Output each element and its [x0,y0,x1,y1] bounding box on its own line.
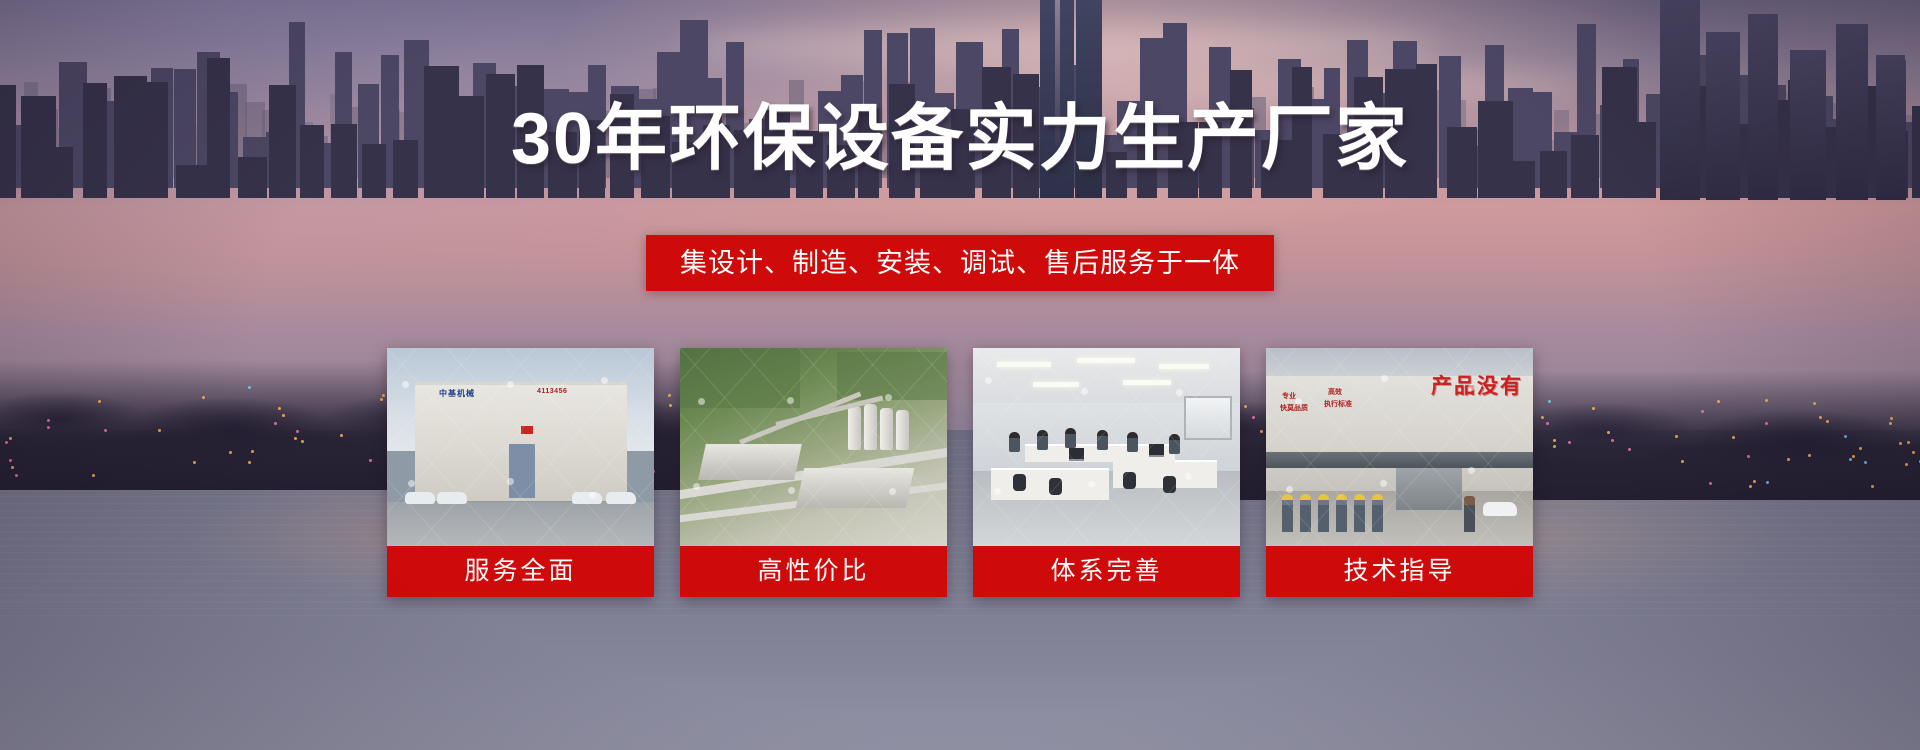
feature-card[interactable]: 体系完善 [973,348,1240,597]
flag-icon [521,426,533,434]
watermark-dot [1088,481,1095,488]
watermark-dot [788,487,795,494]
watermark-dot [1286,486,1293,493]
watermark-dot [698,398,705,405]
watermark-dot [1381,375,1388,382]
card-caption: 技术指导 [1266,546,1533,597]
building-sign-text: 中基机械 [439,388,475,399]
watermark-dot [1176,389,1183,396]
card-caption: 高性价比 [680,546,947,597]
car-shape [1483,502,1517,516]
feature-card[interactable]: 中基机械 4113456 服务全面 [387,348,654,597]
watermark-dot [985,377,992,384]
watermark-dot [693,483,700,490]
hero-banner: 30年环保设备实力生产厂家 集设计、制造、安装、调试、售后服务于一体 中基机械 … [0,0,1920,750]
page-title: 30年环保设备实力生产厂家 [0,98,1920,180]
watermark-dot [1295,398,1302,405]
card-caption: 服务全面 [387,546,654,597]
wall-slogan-text: 专业 [1282,392,1296,401]
feature-card-list: 中基机械 4113456 服务全面 [387,348,1533,597]
window-shape [1184,396,1232,440]
subtitle-banner: 集设计、制造、安装、调试、售后服务于一体 [646,235,1274,291]
wall-slogan-text: 快莫品质 [1280,404,1308,413]
watermark-dot [1468,384,1475,391]
watermark-dot [885,394,892,401]
feature-card[interactable]: 产品没有 专业 快莫品质 高效 执行标准 [1266,348,1533,597]
subtitle-text: 集设计、制造、安装、调试、售后服务于一体 [680,247,1240,279]
card-photo-factory-facade: 产品没有 专业 快莫品质 高效 执行标准 [1266,348,1533,546]
hero-content: 30年环保设备实力生产厂家 集设计、制造、安装、调试、售后服务于一体 中基机械 … [0,0,1920,750]
watermark-dot [402,381,409,388]
card-photo-industrial-plant [680,348,947,546]
watermark-dot [507,381,514,388]
wall-slogan-text: 高效 [1328,388,1342,397]
card-photo-office-building: 中基机械 4113456 [387,348,654,546]
card-photo-office-interior [973,348,1240,546]
card-caption: 体系完善 [973,546,1240,597]
factory-banner-text: 产品没有 [1431,370,1523,400]
watermark-dot [408,480,415,487]
wall-slogan-text: 执行标准 [1324,400,1352,409]
feature-card[interactable]: 高性价比 [680,348,947,597]
building-phone-text: 4113456 [537,388,567,395]
